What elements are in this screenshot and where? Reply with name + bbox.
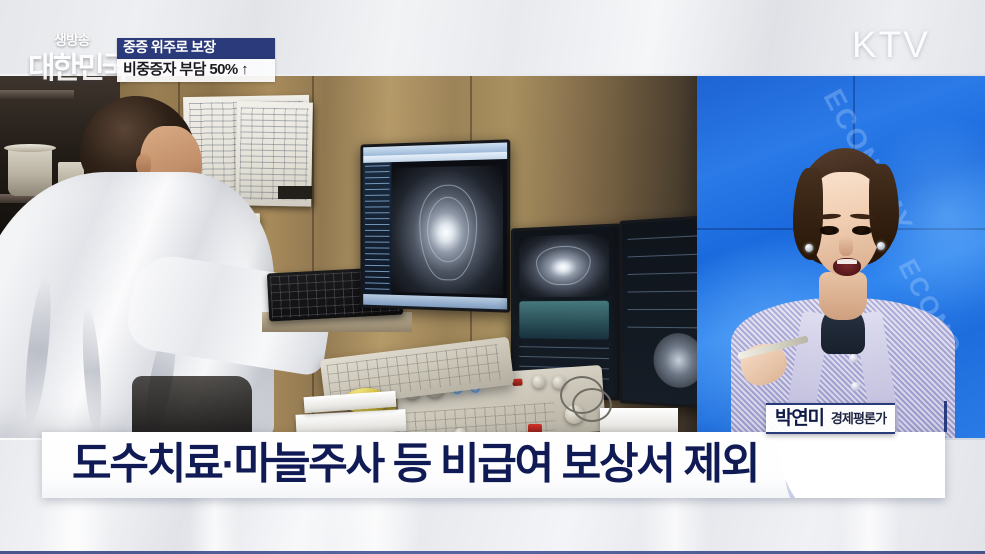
channel-watermark: KTV xyxy=(852,24,930,66)
guest-name: 박연미 xyxy=(775,409,824,428)
cable-coil xyxy=(572,388,612,422)
lower-third-text: 도수치료·마늘주사 등 비급여 보상서 제외 xyxy=(72,444,758,487)
container-lid xyxy=(4,144,56,152)
mammogram-image xyxy=(391,165,503,295)
jacket-button xyxy=(851,382,860,391)
ultrasound-scan xyxy=(519,233,609,297)
right-video-panel: ECONOMY ECONO xyxy=(697,76,985,438)
anchor-teeth xyxy=(837,259,857,264)
anchor-earring xyxy=(877,242,885,250)
shelf-ledge xyxy=(0,90,74,99)
medical-monitor-tertiary xyxy=(619,215,697,409)
broadcast-frame: ECONOMY ECONO 생방송 대한민국 중증 위주로 보장 비중증자 부담… xyxy=(0,0,985,554)
anchor-nose xyxy=(839,236,853,256)
anchor-earring xyxy=(805,244,813,252)
banner-swoosh xyxy=(785,432,945,498)
anchor-eye xyxy=(852,226,872,235)
medical-monitor-primary xyxy=(360,139,510,312)
nameplate-end-cap xyxy=(944,401,947,432)
guest-role: 경제평론가 xyxy=(831,412,886,425)
jacket-button xyxy=(849,354,858,363)
anchor-neck xyxy=(819,272,867,320)
left-video-panel xyxy=(0,76,697,438)
paper-stack xyxy=(600,408,678,434)
label-tag xyxy=(278,186,312,199)
ticker-headline: 중증 위주로 보장 xyxy=(117,38,275,59)
guest-nameplate: 박연미 경제평론가 xyxy=(766,403,895,434)
news-ticker: 중증 위주로 보장 비중증자 부담 50% ↑ xyxy=(117,38,275,82)
lower-third-banner: 도수치료·마늘주사 등 비급여 보상서 제외 xyxy=(42,432,945,498)
banner-swoosh-highlight xyxy=(779,432,945,498)
anchor-eye xyxy=(819,226,839,235)
ticker-subline: 비중증자 부담 50% ↑ xyxy=(117,59,275,83)
office-chair xyxy=(132,376,252,438)
scan-overlay xyxy=(519,301,609,340)
